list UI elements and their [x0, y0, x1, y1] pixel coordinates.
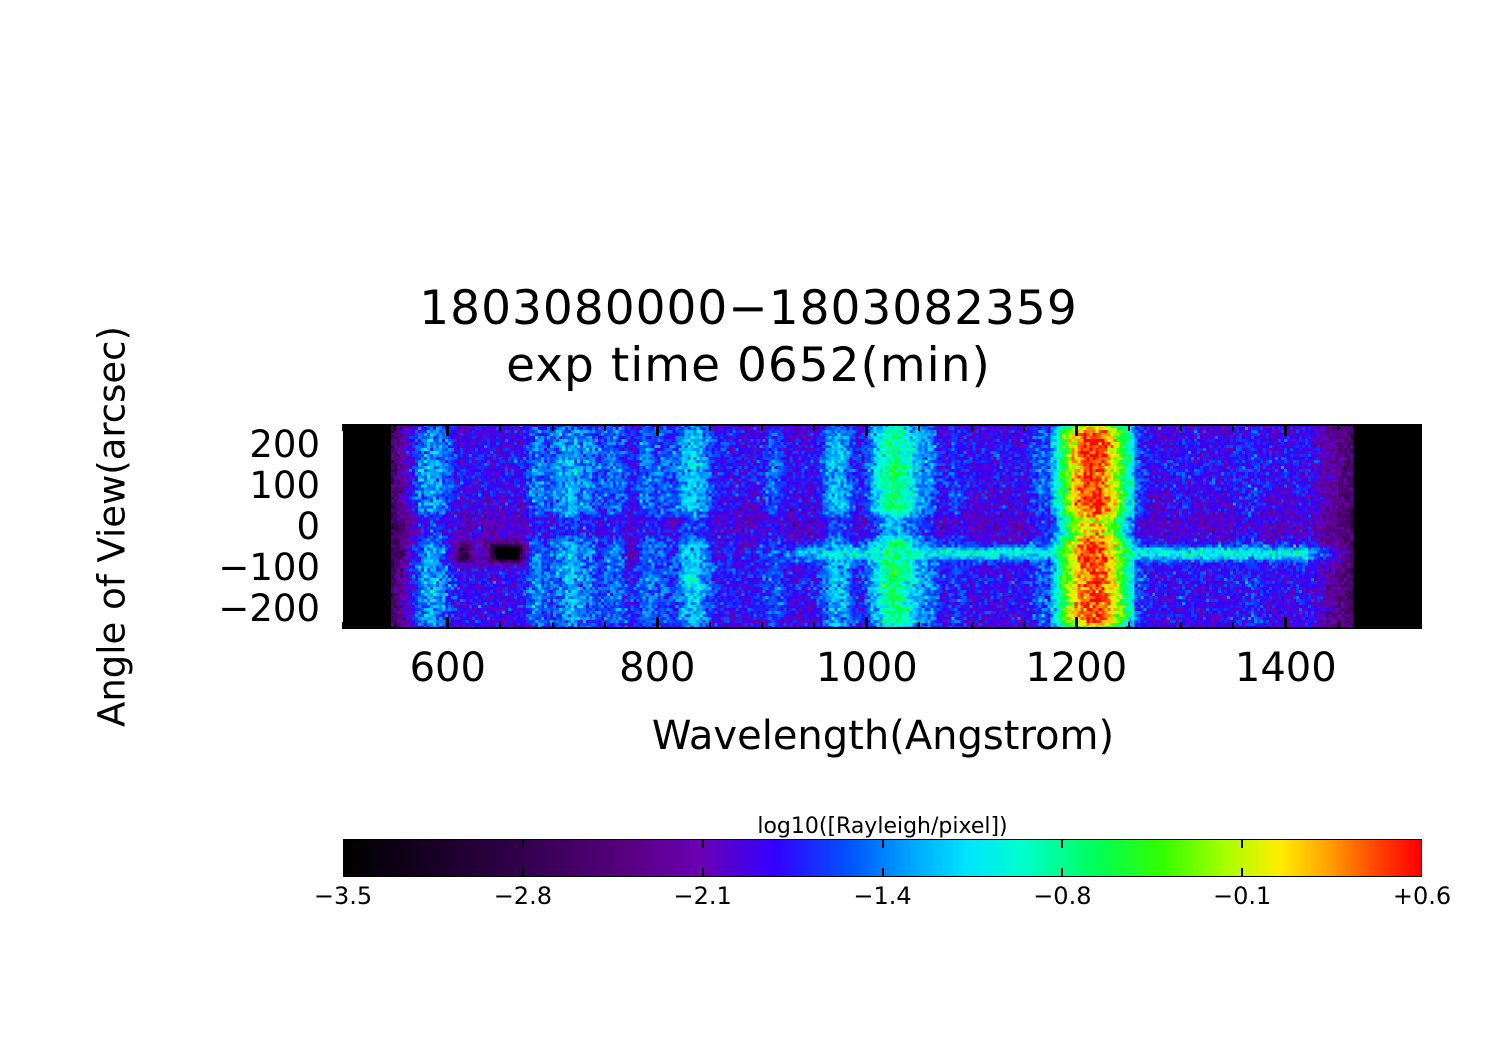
y-tick-label: 100: [249, 467, 320, 504]
x-tick-label: 800: [587, 648, 727, 688]
x-tick-label: 600: [378, 648, 518, 688]
x-tick-labels: 600800100012001400: [343, 648, 1422, 704]
colorbar-tick-label: −3.5: [283, 884, 403, 908]
title-line-2: exp time 0652(min): [0, 340, 1497, 392]
colorbar-tick-label: −0.8: [1002, 884, 1122, 908]
x-tick-label: 1000: [797, 648, 937, 688]
y-tick-labels: 2001000−100−200: [150, 424, 332, 629]
colorbar: [343, 839, 1422, 877]
x-axis-label: Wavelength(Angstrom): [343, 713, 1423, 759]
colorbar-tick-label: −2.8: [463, 884, 583, 908]
colorbar-tick-label: −2.1: [643, 884, 763, 908]
y-tick-label: −100: [218, 549, 320, 586]
colorbar-tick-label: +0.6: [1362, 884, 1482, 908]
y-tick-label: 0: [296, 508, 320, 545]
colorbar-tick-labels: −3.5−2.8−2.1−1.4−0.8−0.1+0.6: [343, 884, 1422, 918]
y-tick-label: −200: [218, 590, 320, 627]
figure-title: 1803080000−1803082359 exp time 0652(min): [0, 283, 1497, 392]
x-tick-label: 1400: [1216, 648, 1356, 688]
title-line-1: 1803080000−1803082359: [419, 281, 1077, 336]
colorbar-label: log10([Rayleigh/pixel]): [343, 814, 1422, 839]
figure-root: 1803080000−1803082359 exp time 0652(min)…: [0, 0, 1497, 1058]
y-tick-label: 200: [249, 426, 320, 463]
colorbar-tick-label: −1.4: [823, 884, 943, 908]
colorbar-tick-label: −0.1: [1182, 884, 1302, 908]
colorbar-gradient: [344, 840, 1421, 876]
spectrogram-image: [343, 424, 1422, 629]
x-tick-label: 1200: [1006, 648, 1146, 688]
y-axis-label: Angle of View(arcsec): [91, 267, 134, 787]
spectrogram-plot-area: [343, 424, 1422, 629]
